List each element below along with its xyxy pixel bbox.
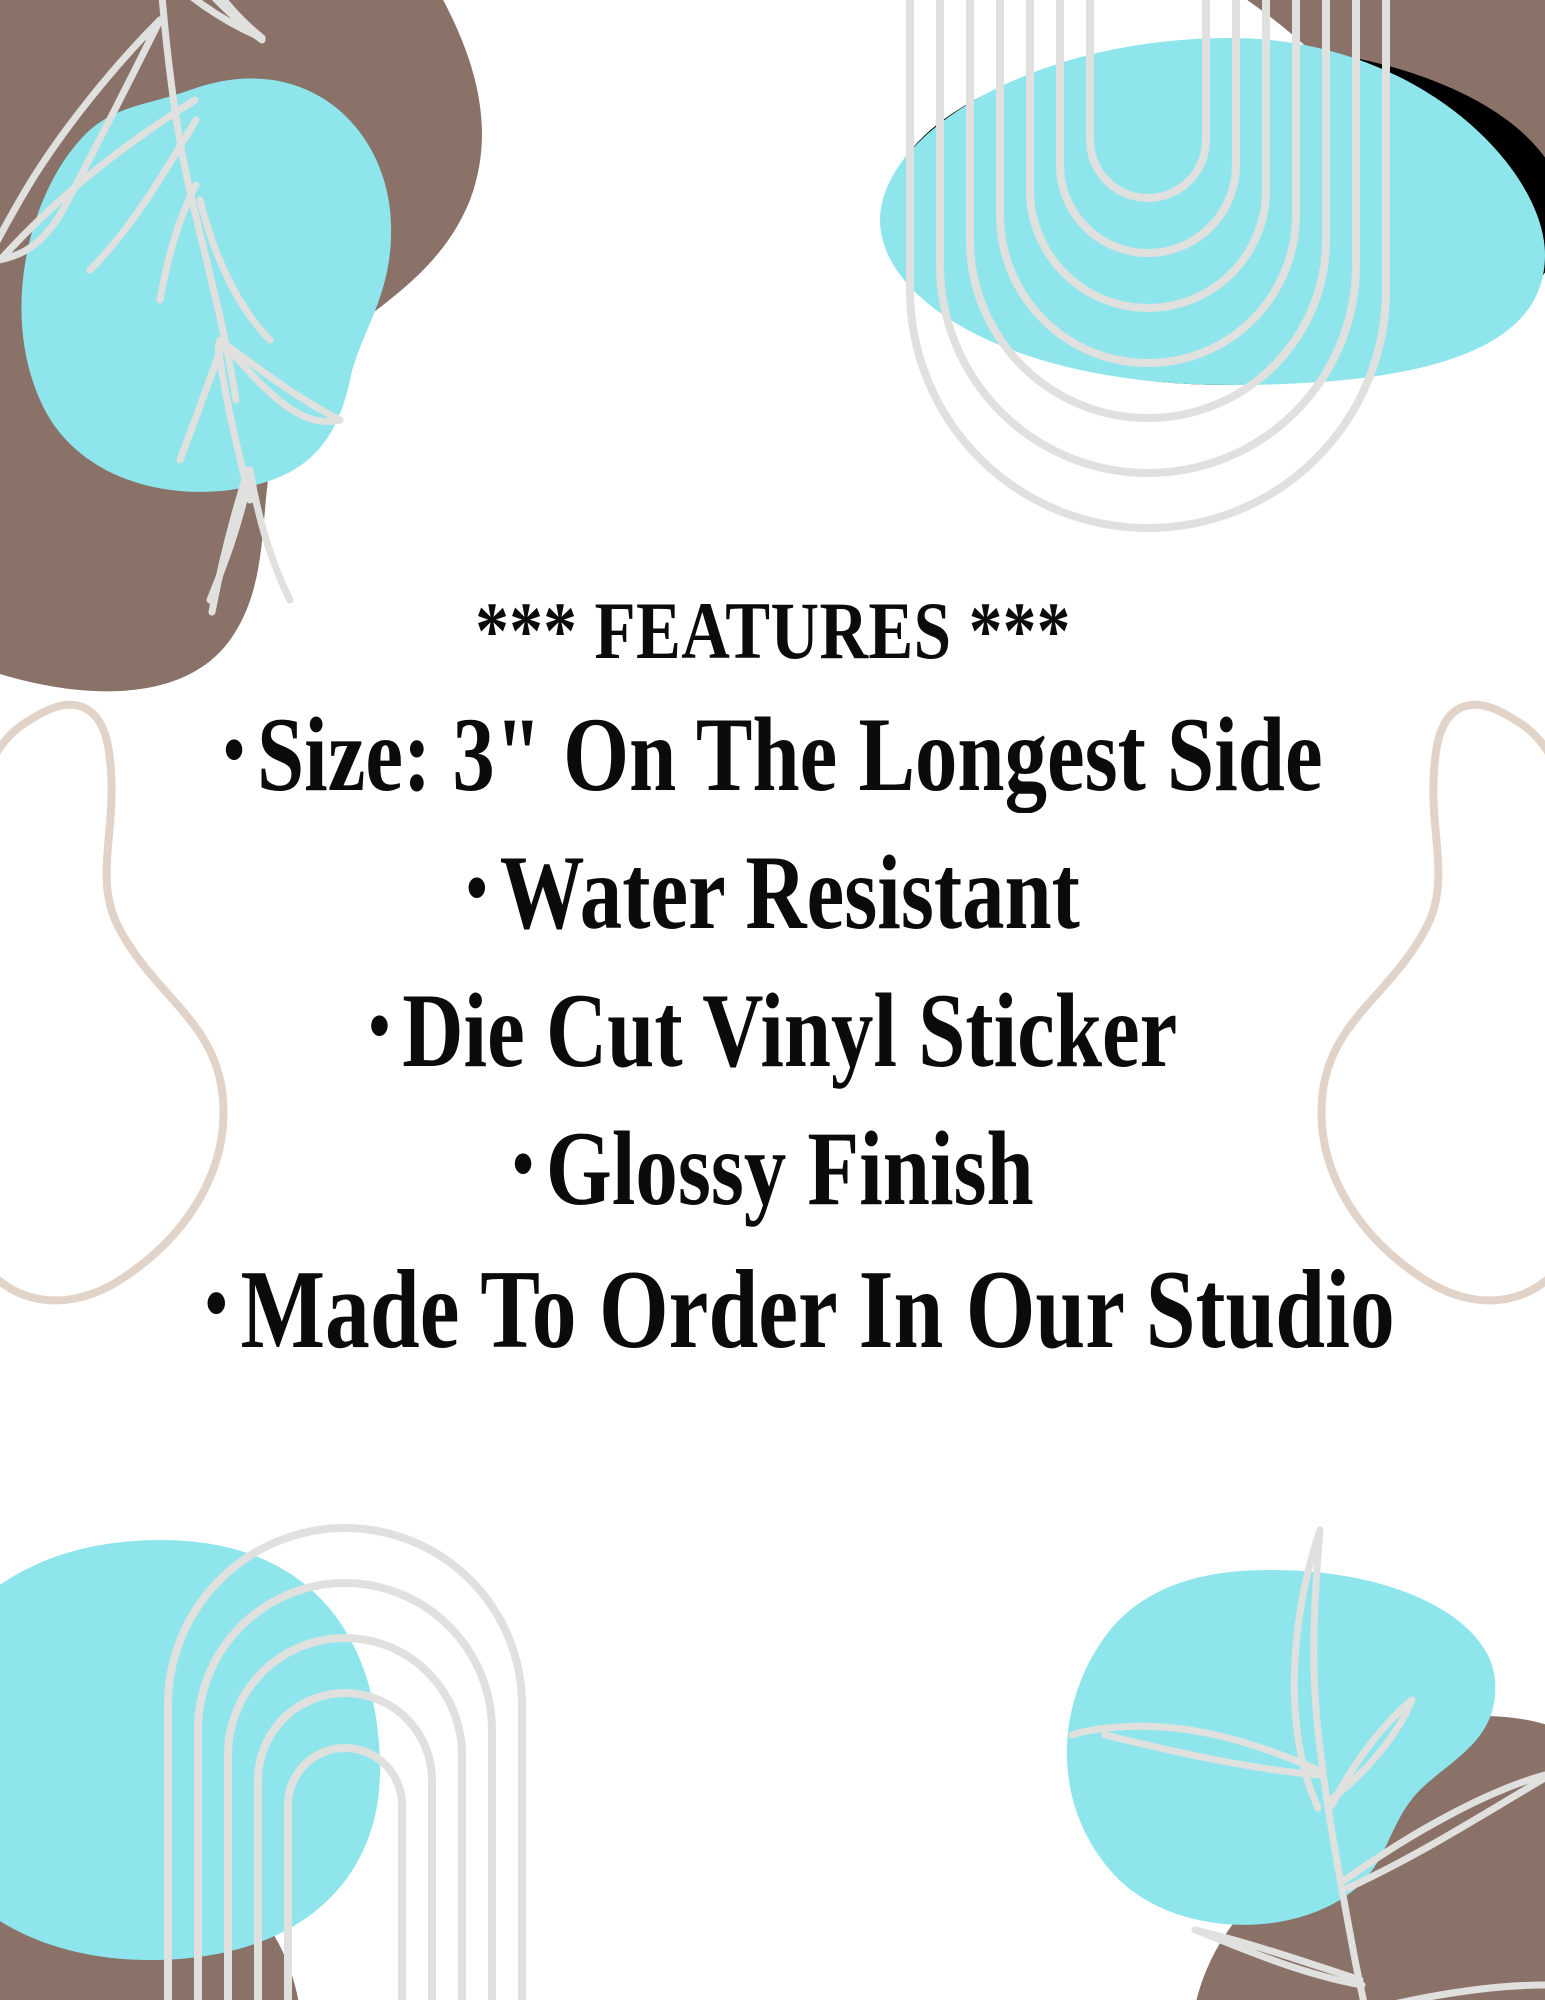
list-item: •Made To Order In Our Studio	[205, 1238, 1341, 1384]
list-item-label: Glossy Finish	[545, 1110, 1033, 1227]
list-item: •Water Resistant	[205, 824, 1341, 962]
list-item: •Die Cut Vinyl Sticker	[205, 962, 1341, 1100]
list-item: •Glossy Finish	[205, 1100, 1341, 1238]
product-features-poster: *** FEATURES *** •Size: 3" On The Longes…	[0, 0, 1545, 2000]
bullet-icon: •	[223, 712, 244, 788]
page-title: *** FEATURES ***	[190, 589, 1354, 673]
poster-content: *** FEATURES *** •Size: 3" On The Longes…	[0, 0, 1545, 2000]
bullet-icon: •	[368, 988, 389, 1064]
list-item-label: Water Resistant	[499, 834, 1079, 951]
list-item: •Size: 3" On The Longest Side	[205, 686, 1341, 824]
features-list: •Size: 3" On The Longest Side •Water Res…	[63, 686, 1483, 1383]
list-item-label: Die Cut Vinyl Sticker	[402, 972, 1177, 1089]
list-item-label: Made To Order In Our Studio	[240, 1248, 1394, 1372]
bullet-icon: •	[205, 1264, 228, 1345]
bullet-icon: •	[466, 850, 487, 926]
list-item-label: Size: 3" On The Longest Side	[256, 696, 1322, 813]
bullet-icon: •	[512, 1126, 533, 1202]
